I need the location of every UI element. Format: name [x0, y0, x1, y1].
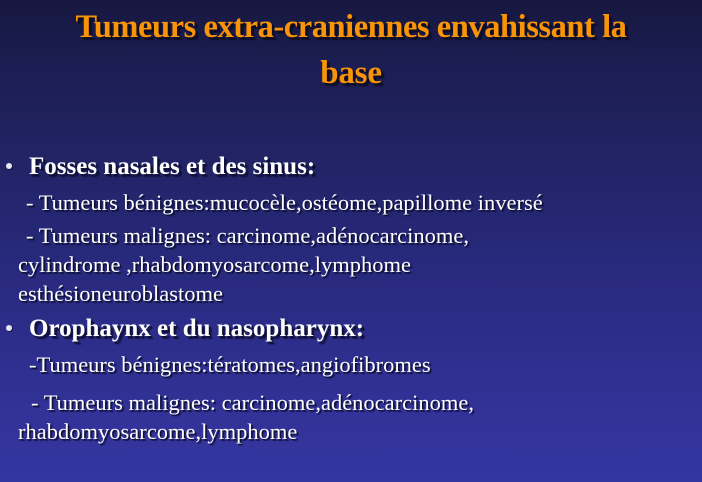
bullet-section-oropharynx: Orophaynx et du nasopharynx:: [0, 312, 702, 346]
section-heading-oropharynx: Orophaynx et du nasopharynx:: [29, 312, 702, 346]
section-heading-text: Orophaynx et du nasopharynx:: [29, 315, 364, 342]
slide-title-line-1: Tumeurs extra-craniennes envahissant la: [0, 0, 702, 49]
section-2-line-1: -Tumeurs bénignes:tératomes,angiofibrome…: [0, 350, 702, 379]
presentation-slide: Tumeurs extra-craniennes envahissant la …: [0, 0, 702, 482]
section-heading-fosses-nasales: Fosses nasales et des sinus:: [29, 150, 702, 184]
bullet-section-fosses-nasales: Fosses nasales et des sinus:: [0, 150, 702, 184]
bullet-point-icon: [6, 325, 12, 331]
section-heading-suffix: :: [307, 153, 315, 180]
slide-title: Tumeurs extra-craniennes envahissant la …: [0, 0, 702, 95]
spacer: [0, 379, 702, 388]
section-2-line-2: - Tumeurs malignes: carcinome,adénocarci…: [0, 388, 702, 417]
bullet-point-icon: [6, 163, 12, 169]
section-1-line-1: - Tumeurs bénignes:mucocèle,ostéome,papi…: [0, 188, 702, 217]
section-2-line-3: rhabdomyosarcome,lymphome: [0, 417, 702, 446]
slide-body: Fosses nasales et des sinus: - Tumeurs b…: [0, 150, 702, 446]
section-1-line-4: esthésioneuroblastome: [0, 279, 702, 308]
section-heading-text: Fosses nasales et des sinus: [29, 153, 307, 180]
section-1-line-2: - Tumeurs malignes: carcinome,adénocarci…: [0, 221, 702, 250]
section-1-line-3: cylindrome ,rhabdomyosarcome,lymphome: [0, 250, 702, 279]
slide-title-line-2: base: [0, 49, 702, 95]
